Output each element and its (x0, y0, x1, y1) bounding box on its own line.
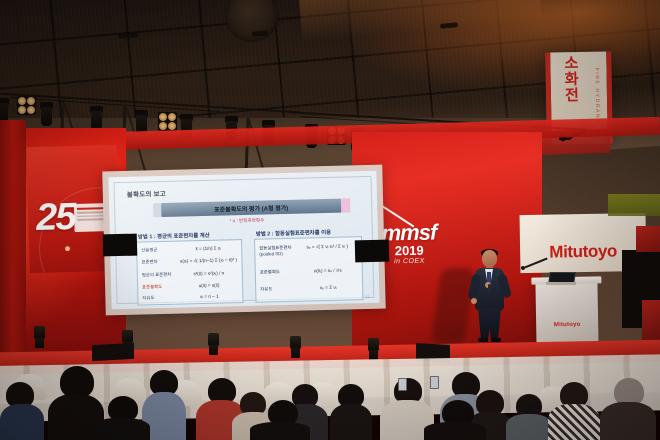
formula-equation: u(x̄ⱼ) = sₚ / √nⱼ (298, 267, 358, 274)
screen-mount-bracket-right (355, 240, 390, 263)
formula-label: 산술평균 (141, 247, 175, 254)
slide-left-formula-box: 산술평균 x̄ = (1/n) Σ xᵢ 표준편차 s(xᵢ) = √( 1/(… (136, 239, 244, 306)
projection-screen: 불확도의 보고 표준불확도의 평가 (A형 평가) * n : 반복측정횟수 방… (102, 165, 385, 316)
smartphone-icon (398, 378, 407, 391)
floor-moving-head-light (34, 326, 45, 348)
audience-member (92, 396, 150, 440)
smartphone-icon (430, 376, 439, 389)
anniversary-number: 25 (36, 196, 75, 240)
slide-formula-row: 산술평균 x̄ = (1/n) Σ xᵢ (141, 245, 237, 247)
background-red-structure (642, 300, 660, 340)
formula-equation: νₚ = Σ νᵢ (298, 284, 358, 291)
slide-formula-row: 표준편차 s(xᵢ) = √( 1/(n−1) Σ (xᵢ − x̄)² ) (141, 257, 237, 259)
audience-body (0, 404, 44, 440)
slide-formula-row: 합동실험표준편차 (pooled SD) sₚ = √( Σ νᵢ sᵢ² / … (259, 243, 357, 245)
podium-microphone-capsule-icon (521, 266, 525, 270)
background-red-structure (636, 226, 660, 252)
formula-label: 표준불확도 (260, 269, 294, 276)
audience-member (600, 378, 656, 440)
slide-formula-row: 자유도 νₚ = Σ νᵢ (260, 284, 358, 286)
laptop-base (546, 282, 576, 285)
podium-brand-text: Mitutoyo (536, 321, 598, 328)
slide-formula-row: 표준불확도 u(x̄) = s(x̄) (142, 282, 238, 284)
formula-label: 자유도 (142, 295, 176, 302)
slide-note: * n : 반복측정횟수 (229, 217, 264, 224)
laptop-on-podium (546, 272, 576, 285)
formula-label: 자유도 (260, 286, 294, 293)
audience-member (250, 400, 310, 440)
screen-mount-bracket-left (103, 234, 138, 257)
speaker-shoe (491, 338, 501, 342)
audience-member (424, 400, 486, 440)
audience-member (506, 394, 552, 440)
green-signage-strip (608, 194, 660, 216)
slide-page-number: 11 (366, 295, 370, 299)
formula-equation: u(x̄) = s(x̄) (180, 282, 238, 288)
slide-formula-row: 자유도 νᵢ = n − 1 (142, 293, 238, 295)
slide-header-bar-right-cap (341, 198, 350, 212)
slide-formula-row: 표준불확도 u(x̄ⱼ) = sₚ / √nⱼ (260, 267, 358, 269)
formula-equation: sₚ = √( Σ νᵢ sᵢ² / Σ νᵢ ) (297, 243, 357, 250)
logo-dot (65, 246, 70, 251)
conference-photo-scene: 소화전 FIRE HYDRANT (0, 0, 660, 440)
blinder-light (17, 96, 36, 115)
speaker-shoe (478, 338, 488, 342)
handheld-microphone-icon (488, 284, 491, 293)
formula-equation: s(xᵢ) = √( 1/(n−1) Σ (xᵢ − x̄)² ) (179, 257, 237, 263)
audience-member (330, 384, 372, 440)
formula-equation: νᵢ = n − 1 (180, 293, 238, 299)
speaker-left-hand (471, 298, 477, 304)
slide-page-title: 불확도의 보고 (127, 188, 166, 199)
projected-slide: 불확도의 보고 표준불확도의 평가 (A형 평가) * n : 반복측정횟수 방… (108, 171, 379, 310)
formula-equation: s²(x̄) = s²(xᵢ) / n (180, 270, 238, 276)
formula-label: 평균의 표준편차 (142, 272, 176, 279)
speaker-person (469, 250, 509, 342)
audience-body (330, 404, 372, 440)
audience-body (548, 404, 600, 440)
podium: Mitutoyo (535, 281, 598, 348)
audience-member (548, 382, 600, 440)
formula-equation: x̄ = (1/n) Σ xᵢ (179, 245, 237, 251)
audience-member (0, 382, 44, 440)
speaker-trousers (478, 308, 501, 342)
audience-area (0, 352, 660, 440)
stage-curtain-left (0, 120, 26, 370)
formula-label: 표준편차 (141, 259, 175, 266)
audience-body (600, 402, 656, 440)
audience-body (92, 418, 150, 440)
moving-head-light (40, 102, 53, 128)
audience-body (424, 422, 486, 440)
audience-body (506, 414, 552, 440)
audience-body (250, 422, 310, 440)
formula-label: 표준불확도 (142, 284, 176, 291)
blinder-light (158, 112, 177, 131)
slide-header-text: 표준불확도의 평가 (A형 평가) (161, 202, 341, 215)
slide-right-formula-box: 합동실험표준편차 (pooled SD) sₚ = √( Σ νᵢ sᵢ² / … (254, 236, 364, 303)
formula-label: 합동실험표준편차 (pooled SD) (259, 245, 293, 257)
slide-formula-row: 평균의 표준편차 s²(x̄) = s²(xᵢ) / n (142, 270, 238, 272)
